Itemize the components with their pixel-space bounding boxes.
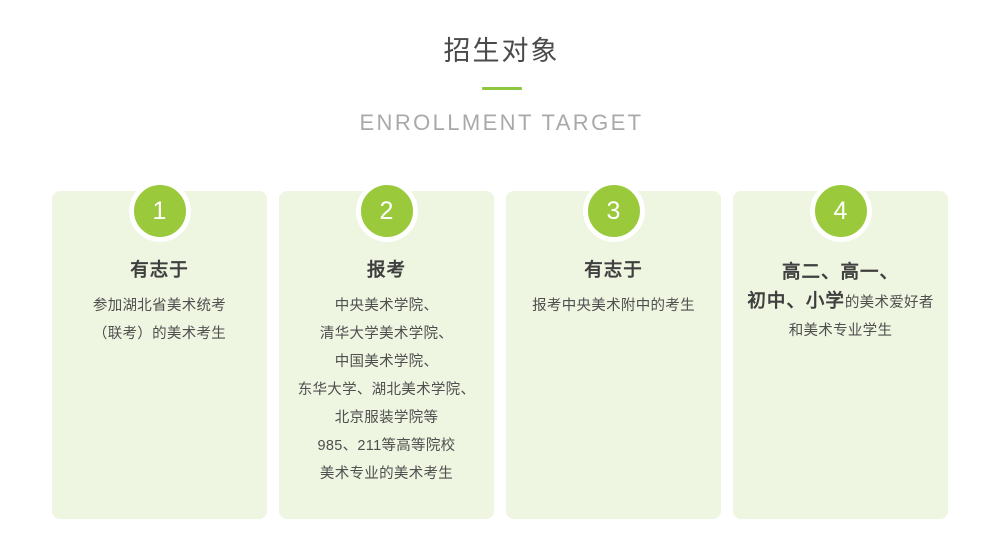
card-number-badge-3: 3	[583, 180, 645, 242]
card-body-line: 和美术专业学生	[739, 317, 942, 345]
card-body-line: 中国美术学院、	[285, 348, 488, 376]
card-body-emphasis: 初中、小学	[747, 290, 845, 311]
card-body-text: 的美术爱好者	[845, 295, 934, 311]
card-body-line: 东华大学、湖北美术学院、	[285, 376, 488, 404]
enrollment-target-page: { "header": { "title": "招生对象", "subtitle…	[0, 0, 1003, 556]
card-heading-3: 有志于	[512, 257, 715, 283]
card-number-badge-2: 2	[356, 180, 418, 242]
card-body-line: 985、211等高等院校	[285, 432, 488, 460]
card-heading-1: 有志于	[58, 257, 261, 283]
page-title: 招生对象	[0, 34, 1003, 68]
card-heading-2: 报考	[285, 257, 488, 283]
enrollment-card-4: 4 高二、高一、 初中、小学的美术爱好者 和美术专业学生	[733, 191, 948, 519]
page-subtitle: ENROLLMENT TARGET	[0, 110, 1003, 136]
page-header: 招生对象 ENROLLMENT TARGET	[0, 0, 1003, 136]
enrollment-card-3: 3 有志于 报考中央美术附中的考生	[506, 191, 721, 519]
card-body-4: 高二、高一、 初中、小学的美术爱好者 和美术专业学生	[739, 257, 942, 345]
card-number-badge-4: 4	[810, 180, 872, 242]
card-body-3: 报考中央美术附中的考生	[512, 292, 715, 320]
card-body-line: （联考）的美术考生	[58, 320, 261, 348]
enrollment-card-2: 2 报考 中央美术学院、 清华大学美术学院、 中国美术学院、 东华大学、湖北美术…	[279, 191, 494, 519]
enrollment-target-cards: 1 有志于 参加湖北省美术统考 （联考）的美术考生 2 报考 中央美术学院、 清…	[52, 191, 951, 519]
card-body-line: 参加湖北省美术统考	[58, 292, 261, 320]
enrollment-card-1: 1 有志于 参加湖北省美术统考 （联考）的美术考生	[52, 191, 267, 519]
card-body-2: 中央美术学院、 清华大学美术学院、 中国美术学院、 东华大学、湖北美术学院、 北…	[285, 292, 488, 488]
card-body-line: 初中、小学的美术爱好者	[739, 287, 942, 317]
card-body-line: 中央美术学院、	[285, 292, 488, 320]
card-body-line: 清华大学美术学院、	[285, 320, 488, 348]
card-body-line: 北京服装学院等	[285, 404, 488, 432]
card-body-line: 美术专业的美术考生	[285, 460, 488, 488]
card-body-1: 参加湖北省美术统考 （联考）的美术考生	[58, 292, 261, 348]
title-divider	[482, 87, 522, 90]
card-number-badge-1: 1	[129, 180, 191, 242]
card-body-line: 报考中央美术附中的考生	[512, 292, 715, 320]
card-body-line: 高二、高一、	[739, 257, 942, 287]
